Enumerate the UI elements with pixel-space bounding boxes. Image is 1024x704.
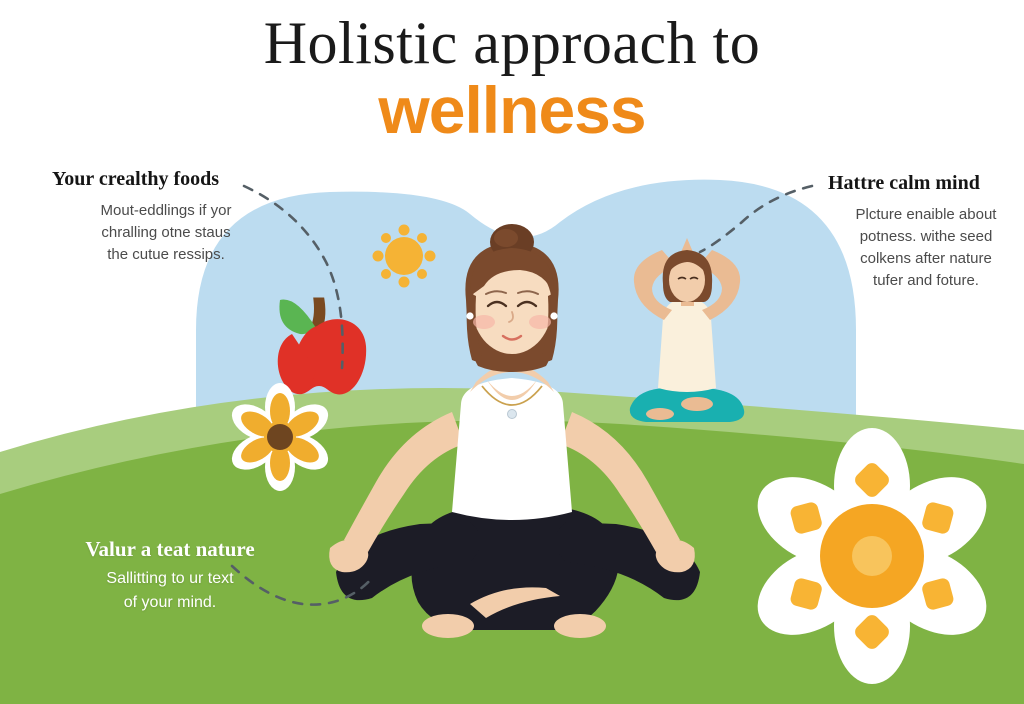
callout-healthy-foods-line-1: Mout-eddlings if yor bbox=[52, 200, 280, 222]
earring-left bbox=[466, 312, 473, 319]
meditation-blush-left bbox=[473, 315, 495, 329]
callout-calm-mind-body: Plcture enaible about potness. withe see… bbox=[828, 204, 1024, 292]
wellness-infographic: Holistic approach to wellness Your creal… bbox=[0, 0, 1024, 704]
meditation-foot-right bbox=[554, 614, 606, 638]
callout-healthy-foods-line-2: chralling otne staus bbox=[52, 222, 280, 244]
title-line-1: Holistic approach to bbox=[0, 8, 1024, 78]
meditation-foot-left bbox=[422, 614, 474, 638]
callout-healthy-foods-line-3: the cutue ressips. bbox=[52, 244, 280, 266]
callout-calm-mind-line-4: tufer and foture. bbox=[828, 270, 1024, 292]
callout-healthy-foods: Your crealthy foods Mout-eddlings if yor… bbox=[52, 166, 302, 266]
callout-calm-mind-line-2: potness. withe seed bbox=[828, 226, 1024, 248]
necklace-pendant bbox=[508, 410, 517, 419]
callout-healthy-foods-body: Mout-eddlings if yor chralling otne stau… bbox=[52, 200, 302, 266]
callout-healthy-foods-heading: Your crealthy foods bbox=[52, 166, 302, 192]
meditation-hair-bun-highlight bbox=[494, 229, 518, 247]
callout-calm-mind: Hattre calm mind Plcture enaible about p… bbox=[828, 170, 1024, 292]
earring-right bbox=[550, 312, 557, 319]
callout-calm-mind-heading: Hattre calm mind bbox=[828, 170, 1024, 196]
callout-value-nature-line-2: of your mind. bbox=[60, 591, 280, 615]
yoga-woman-foot bbox=[681, 397, 713, 411]
callout-value-nature: Valur a teat nature Sallitting to ur tex… bbox=[60, 535, 280, 615]
callout-calm-mind-line-3: colkens after nature bbox=[828, 248, 1024, 270]
large-flower-inner-center bbox=[852, 536, 892, 576]
page-title: Holistic approach to wellness bbox=[0, 8, 1024, 146]
callout-value-nature-body: Sallitting to ur text of your mind. bbox=[60, 567, 280, 615]
meditation-blush-right bbox=[529, 315, 551, 329]
small-flower-center bbox=[267, 424, 293, 450]
callout-value-nature-line-1: Sallitting to ur text bbox=[60, 567, 280, 591]
title-line-2: wellness bbox=[0, 74, 1024, 146]
callout-calm-mind-line-1: Plcture enaible about bbox=[828, 204, 1024, 226]
callout-value-nature-heading: Valur a teat nature bbox=[60, 535, 280, 563]
yoga-woman-foot-2 bbox=[646, 408, 674, 420]
